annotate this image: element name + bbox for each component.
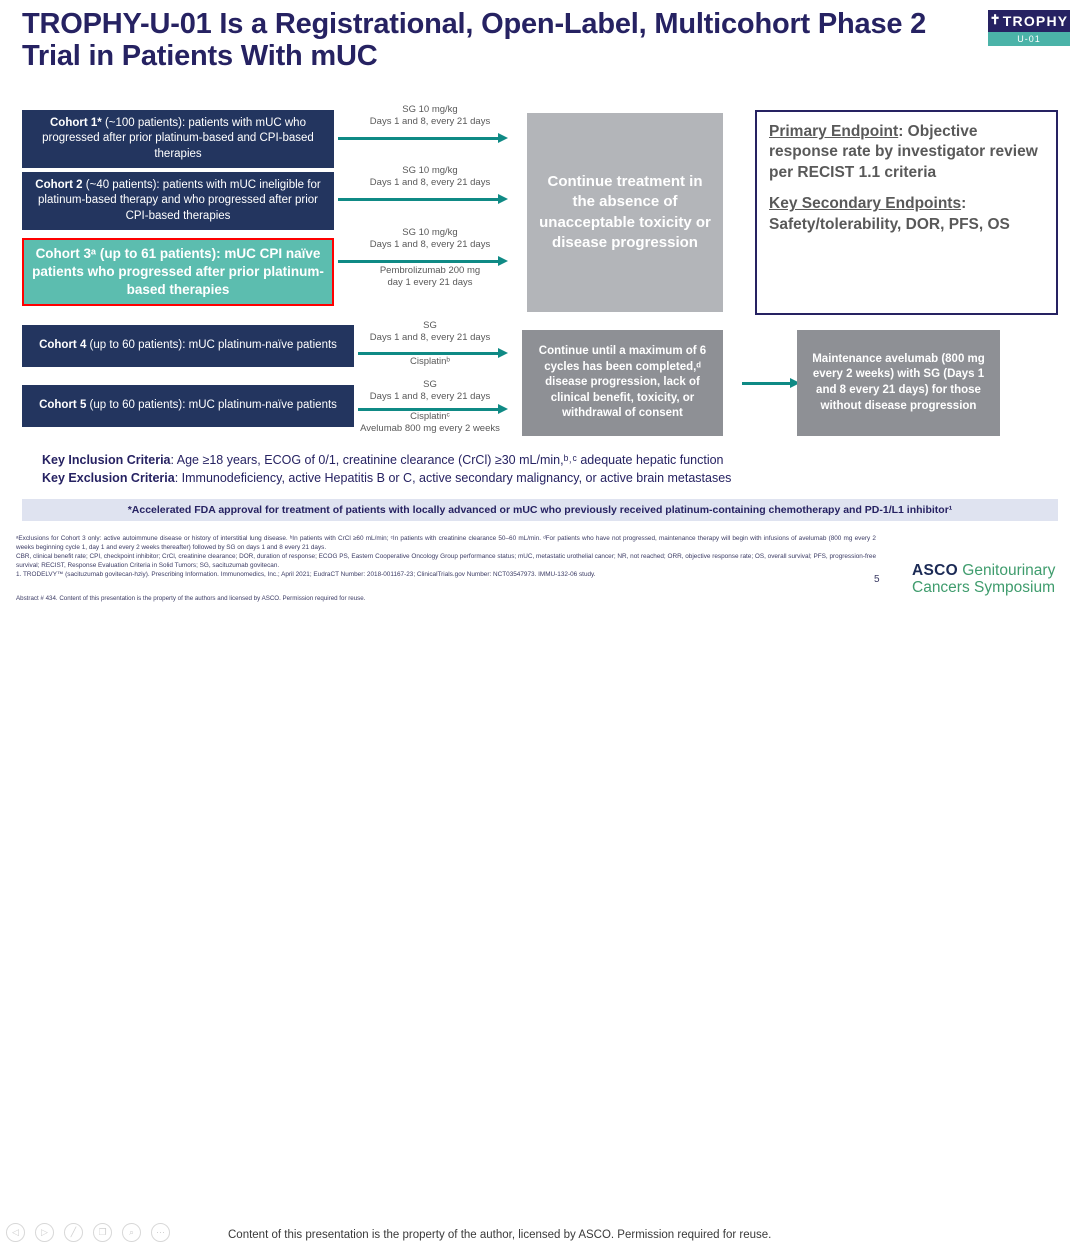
cohort-2-label: Cohort 2 bbox=[35, 179, 82, 191]
exclusion-criteria: Key Exclusion Criteria: Immunodeficiency… bbox=[42, 469, 731, 487]
process-box-maintenance: Maintenance avelumab (800 mg every 2 wee… bbox=[797, 330, 1000, 436]
regimen-2-line2: Days 1 and 8, every 21 days bbox=[350, 177, 510, 189]
arrow-cohort-2 bbox=[338, 194, 510, 204]
cohort-box-5: Cohort 5 (up to 60 patients): mUC platin… bbox=[22, 385, 354, 427]
trophy-logo-name: ✝TROPHY bbox=[988, 10, 1070, 32]
more-options-icon[interactable]: ⋯ bbox=[151, 1223, 170, 1242]
asco-line2: Cancers Symposium bbox=[912, 579, 1055, 596]
process-box-continue-until: Continue until a maximum of 6 cycles has… bbox=[522, 330, 723, 436]
regimen-label-5: SG Days 1 and 8, every 21 days bbox=[350, 379, 510, 404]
regimen-4-line3: Cisplatinᵇ bbox=[350, 356, 510, 368]
continue-treatment-text: Continue treatment in the absence of una… bbox=[535, 172, 715, 253]
exclusion-criteria-text: : Immunodeficiency, active Hepatitis B o… bbox=[175, 471, 732, 485]
accelerated-approval-banner: *Accelerated FDA approval for treatment … bbox=[22, 499, 1058, 521]
regimen-label-4: SG Days 1 and 8, every 21 days bbox=[350, 320, 510, 345]
arrow-maintenance bbox=[742, 378, 802, 388]
regimen-5-line4: Avelumab 800 mg every 2 weeks bbox=[342, 423, 518, 435]
asco-line1-rest: Genitourinary bbox=[958, 562, 1055, 579]
cohort-4-label: Cohort 4 bbox=[39, 339, 86, 351]
footnote-abstract: Abstract # 434. Content of this presenta… bbox=[16, 595, 876, 604]
pen-icon[interactable]: ╱ bbox=[64, 1223, 83, 1242]
search-icon[interactable]: ⌕ bbox=[122, 1223, 141, 1242]
regimen-5-line1: SG bbox=[350, 379, 510, 391]
asco-logo: ASCO Genitourinary Cancers Symposium bbox=[912, 562, 1055, 597]
next-slide-button[interactable]: ▷ bbox=[35, 1223, 54, 1242]
regimen-3-line3: Pembrolizumab 200 mg bbox=[350, 265, 510, 277]
regimen-4-line1: SG bbox=[350, 320, 510, 332]
secondary-endpoint-text: Safety/tolerability, DOR, PFS, OS bbox=[769, 216, 1010, 233]
cohort-5-label: Cohort 5 bbox=[39, 399, 86, 411]
regimen-label-5b: Cisplatinᶜ Avelumab 800 mg every 2 weeks bbox=[342, 411, 518, 436]
page-title: TROPHY-U-01 Is a Registrational, Open-La… bbox=[22, 8, 952, 73]
inclusion-criteria: Key Inclusion Criteria: Age ≥18 years, E… bbox=[42, 451, 724, 469]
footnotes-block: ᵃExclusions for Cohort 3 only: active au… bbox=[16, 534, 876, 579]
inclusion-criteria-label: Key Inclusion Criteria bbox=[42, 453, 171, 467]
regimen-label-2: SG 10 mg/kg Days 1 and 8, every 21 days bbox=[350, 165, 510, 190]
regimen-3-line4: day 1 every 21 days bbox=[350, 277, 510, 289]
cross-icon: ✝ bbox=[990, 12, 1002, 28]
cohort-5-text: (up to 60 patients): mUC platinum-naïve … bbox=[86, 399, 337, 411]
cohort-box-1: Cohort 1* (~100 patients): patients with… bbox=[22, 110, 334, 168]
cohort-box-3: Cohort 3ᵃ (up to 61 patients): mUC CPI n… bbox=[22, 238, 334, 306]
regimen-3-line1: SG 10 mg/kg bbox=[350, 227, 510, 239]
regimen-5-line3: Cisplatinᶜ bbox=[342, 411, 518, 423]
slide-canvas: TROPHY-U-01 Is a Registrational, Open-La… bbox=[0, 0, 1080, 607]
secondary-endpoint-heading: Key Secondary Endpoints bbox=[769, 195, 961, 212]
cohort-4-text: (up to 60 patients): mUC platinum-naïve … bbox=[86, 339, 337, 351]
continue-until-text: Continue until a maximum of 6 cycles has… bbox=[530, 344, 715, 422]
maintenance-text: Maintenance avelumab (800 mg every 2 wee… bbox=[805, 352, 992, 414]
trophy-logo-sub: U-01 bbox=[988, 32, 1070, 46]
regimen-4-line2: Days 1 and 8, every 21 days bbox=[350, 332, 510, 344]
trophy-logo-text: TROPHY bbox=[1003, 13, 1069, 29]
regimen-1-line2: Days 1 and 8, every 21 days bbox=[350, 116, 510, 128]
regimen-5-line2: Days 1 and 8, every 21 days bbox=[350, 391, 510, 403]
regimen-2-line1: SG 10 mg/kg bbox=[350, 165, 510, 177]
asco-brand: ASCO bbox=[912, 562, 958, 579]
exclusion-criteria-label: Key Exclusion Criteria bbox=[42, 471, 175, 485]
footnote-para-1: ᵃExclusions for Cohort 3 only: active au… bbox=[16, 534, 876, 552]
regimen-3-line2: Days 1 and 8, every 21 days bbox=[350, 239, 510, 251]
regimen-label-3: SG 10 mg/kg Days 1 and 8, every 21 days bbox=[350, 227, 510, 252]
cohort-box-2: Cohort 2 (~40 patients): patients with m… bbox=[22, 172, 334, 230]
endpoints-box: Primary Endpoint: Objective response rat… bbox=[755, 110, 1058, 315]
viewer-button-group: ◁ ▷ ╱ ❐ ⌕ ⋯ bbox=[6, 1223, 170, 1242]
trophy-logo: ✝TROPHY U-01 bbox=[988, 10, 1070, 46]
slide-number: 5 bbox=[874, 574, 880, 585]
print-icon[interactable]: ❐ bbox=[93, 1223, 112, 1242]
viewer-caption: Content of this presentation is the prop… bbox=[228, 1229, 771, 1241]
arrow-cohort-1 bbox=[338, 133, 510, 143]
cohort-box-4: Cohort 4 (up to 60 patients): mUC platin… bbox=[22, 325, 354, 367]
regimen-label-4b: Cisplatinᵇ bbox=[350, 356, 510, 368]
cohort-1-label: Cohort 1* bbox=[50, 117, 102, 129]
previous-slide-button[interactable]: ◁ bbox=[6, 1223, 25, 1242]
footnote-para-3: 1. TRODELVY™ (sacituzumab govitecan-hziy… bbox=[16, 570, 876, 579]
cohort-3-text: Cohort 3ᵃ (up to 61 patients): mUC CPI n… bbox=[32, 245, 324, 300]
regimen-label-1: SG 10 mg/kg Days 1 and 8, every 21 days bbox=[350, 104, 510, 129]
inclusion-criteria-text: : Age ≥18 years, ECOG of 0/1, creatinine… bbox=[171, 453, 724, 467]
regimen-label-3b: Pembrolizumab 200 mg day 1 every 21 days bbox=[350, 265, 510, 290]
primary-endpoint-heading: Primary Endpoint bbox=[769, 123, 898, 140]
process-box-continue-treatment: Continue treatment in the absence of una… bbox=[527, 113, 723, 312]
footnote-para-2: CBR, clinical benefit rate; CPI, checkpo… bbox=[16, 552, 876, 570]
regimen-1-line1: SG 10 mg/kg bbox=[350, 104, 510, 116]
viewer-toolbar: ◁ ▷ ╱ ❐ ⌕ ⋯ Content of this presentation… bbox=[0, 607, 1080, 648]
endpoints-spacer bbox=[769, 183, 1044, 194]
